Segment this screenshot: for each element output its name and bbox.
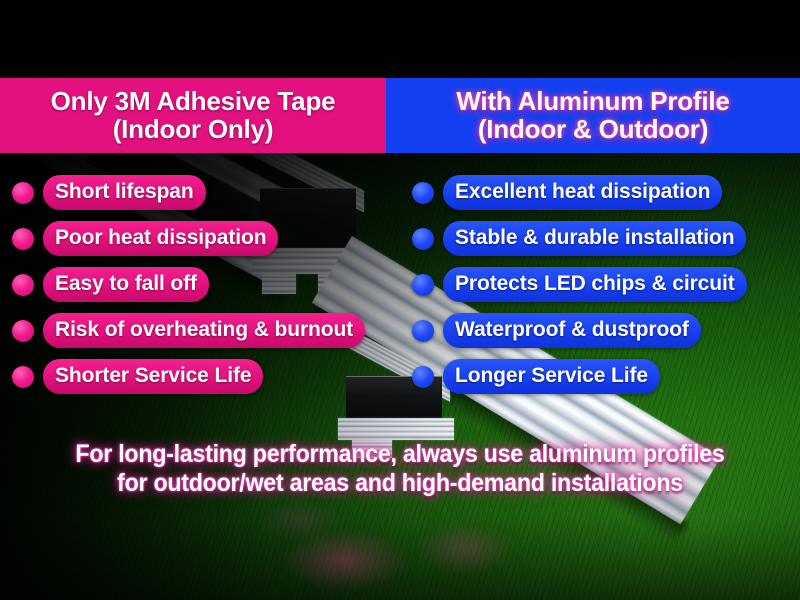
summary-caption: For long-lasting performance, always use… — [0, 440, 800, 497]
pros-item-label: Excellent heat dissipation — [443, 175, 722, 210]
filled-circle-bullet-icon — [12, 182, 34, 204]
list-item: Short lifespan — [12, 176, 206, 209]
list-item: Longer Service Life — [412, 360, 660, 393]
pros-item-label: Waterproof & dustproof — [443, 313, 701, 348]
filled-circle-bullet-icon — [12, 274, 34, 296]
filled-circle-bullet-icon — [12, 320, 34, 342]
pros-item-label: Stable & durable installation — [443, 221, 746, 256]
list-item: Poor heat dissipation — [12, 222, 278, 255]
infographic-canvas: Only 3M Adhesive Tape (Indoor Only) With… — [0, 0, 800, 600]
pros-item-label: Protects LED chips & circuit — [443, 267, 747, 302]
cons-item-label: Shorter Service Life — [43, 359, 263, 394]
header-left-line1: Only 3M Adhesive Tape — [51, 88, 336, 115]
caption-line2: for outdoor/wet areas and high-demand in… — [28, 469, 772, 498]
caption-line1: For long-lasting performance, always use… — [28, 440, 772, 469]
cons-item-label: Poor heat dissipation — [43, 221, 278, 256]
list-item: Excellent heat dissipation — [412, 176, 722, 209]
filled-circle-bullet-icon — [412, 228, 434, 250]
pros-item-label: Longer Service Life — [443, 359, 660, 394]
filled-circle-bullet-icon — [412, 366, 434, 388]
cons-item-label: Short lifespan — [43, 175, 206, 210]
list-item: Shorter Service Life — [12, 360, 263, 393]
list-item: Risk of overheating & burnout — [12, 314, 365, 347]
filled-circle-bullet-icon — [412, 320, 434, 342]
list-item: Protects LED chips & circuit — [412, 268, 747, 301]
header-left-line2: (Indoor Only) — [113, 116, 274, 143]
filled-circle-bullet-icon — [412, 182, 434, 204]
pros-list: Excellent heat dissipation Stable & dura… — [412, 176, 798, 393]
header-right-line1: With Aluminum Profile — [456, 88, 729, 115]
header-right-line2: (Indoor & Outdoor) — [478, 116, 708, 143]
list-item: Easy to fall off — [12, 268, 209, 301]
header-band-right: With Aluminum Profile (Indoor & Outdoor) — [386, 78, 800, 153]
filled-circle-bullet-icon — [412, 274, 434, 296]
filled-circle-bullet-icon — [12, 366, 34, 388]
cons-item-label: Risk of overheating & burnout — [43, 313, 365, 348]
list-item: Stable & durable installation — [412, 222, 746, 255]
header-band-left: Only 3M Adhesive Tape (Indoor Only) — [0, 78, 386, 153]
cons-item-label: Easy to fall off — [43, 267, 209, 302]
filled-circle-bullet-icon — [12, 228, 34, 250]
list-item: Waterproof & dustproof — [412, 314, 701, 347]
cons-list: Short lifespan Poor heat dissipation Eas… — [12, 176, 404, 393]
header-bands: Only 3M Adhesive Tape (Indoor Only) With… — [0, 78, 800, 153]
